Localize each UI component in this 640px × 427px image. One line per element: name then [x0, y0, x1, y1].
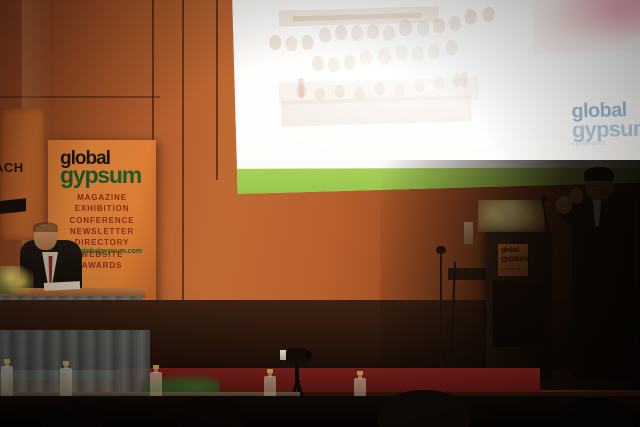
microphone-stand: [440, 252, 442, 372]
banner-url-domain: globalgypsum.com: [80, 248, 142, 255]
bottle-cap: [63, 361, 69, 365]
secondary-banner-subtext: PLY: [0, 206, 44, 215]
audience-head: [176, 396, 244, 427]
bottle-cap: [4, 359, 10, 363]
shadow-overlay: [380, 160, 640, 390]
bottle-cap: [153, 365, 159, 369]
chairman-hair: [33, 222, 58, 232]
camera-lens-icon: [304, 351, 312, 360]
secondary-banner-text: ACH: [0, 160, 46, 175]
audience-head: [42, 402, 104, 427]
secondary-banner: ACH PLY: [0, 108, 44, 240]
slide-logo-line2: gypsum: [572, 119, 640, 141]
wall-seam: [182, 0, 184, 300]
banner-logo-line2: gypsum: [60, 165, 141, 186]
slide-logo: global gypsum conference: [571, 100, 640, 147]
bottle-cap: [267, 369, 273, 373]
wall-seam: [216, 0, 218, 180]
banner-service-item: EXHIBITION: [48, 203, 156, 214]
audience-head: [556, 398, 634, 427]
banner-service-item: CONFERENCE: [48, 215, 156, 226]
bottle-cap: [357, 371, 363, 375]
flower-arrangement: [0, 266, 34, 294]
banner-service-item: MAGAZINE: [48, 192, 156, 203]
conference-photo-scene: ACH PLY: [0, 0, 640, 427]
banner-service-item: NEWSLETTER: [48, 226, 156, 237]
